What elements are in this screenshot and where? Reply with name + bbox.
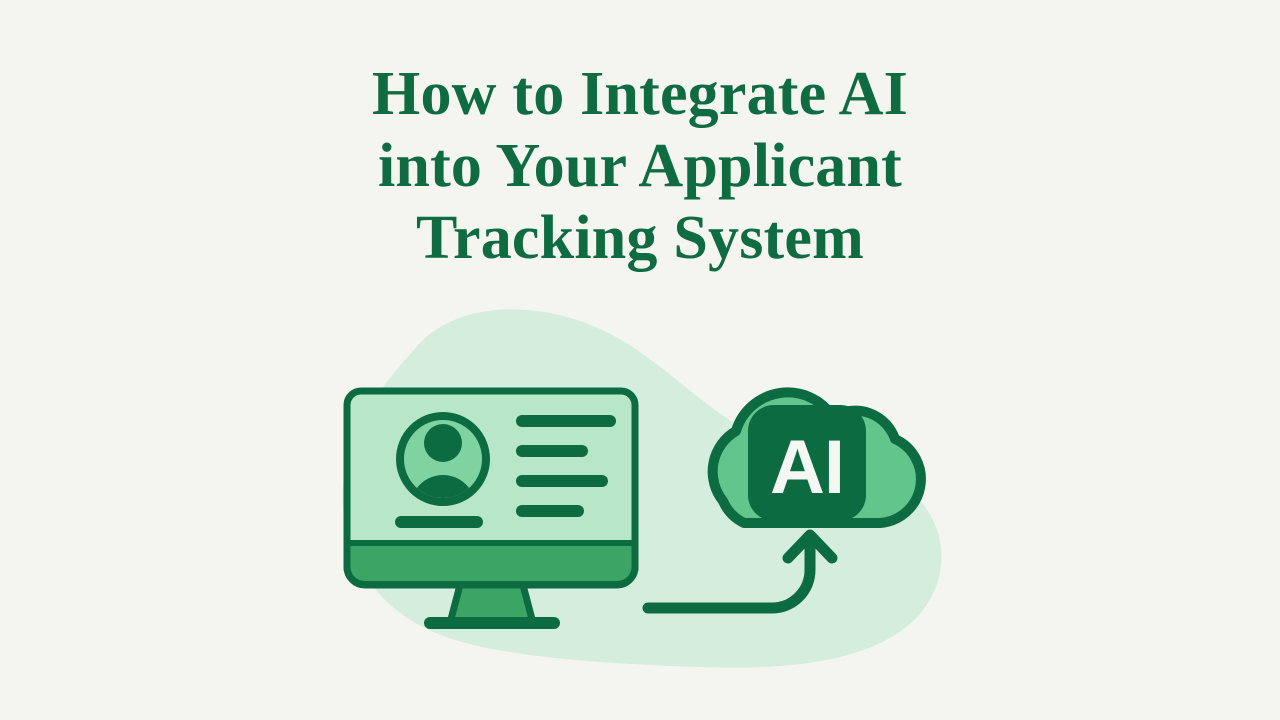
caption-line — [395, 516, 483, 528]
monitor-foot — [424, 617, 560, 629]
text-line-3 — [516, 475, 608, 487]
title-line-3: Tracking System — [0, 202, 1280, 274]
ai-badge-label: AI — [770, 425, 844, 510]
title-line-1: How to Integrate AI — [0, 58, 1280, 130]
hero-illustration: AI — [0, 290, 1280, 690]
monitor-base-bar — [351, 543, 632, 581]
text-line-4 — [516, 505, 584, 517]
title-line-2: into Your Applicant — [0, 130, 1280, 202]
text-line-2 — [516, 445, 588, 457]
text-line-1 — [516, 415, 616, 427]
page-title: How to Integrate AI into Your Applicant … — [0, 58, 1280, 274]
poster-canvas: How to Integrate AI into Your Applicant … — [0, 0, 1280, 720]
